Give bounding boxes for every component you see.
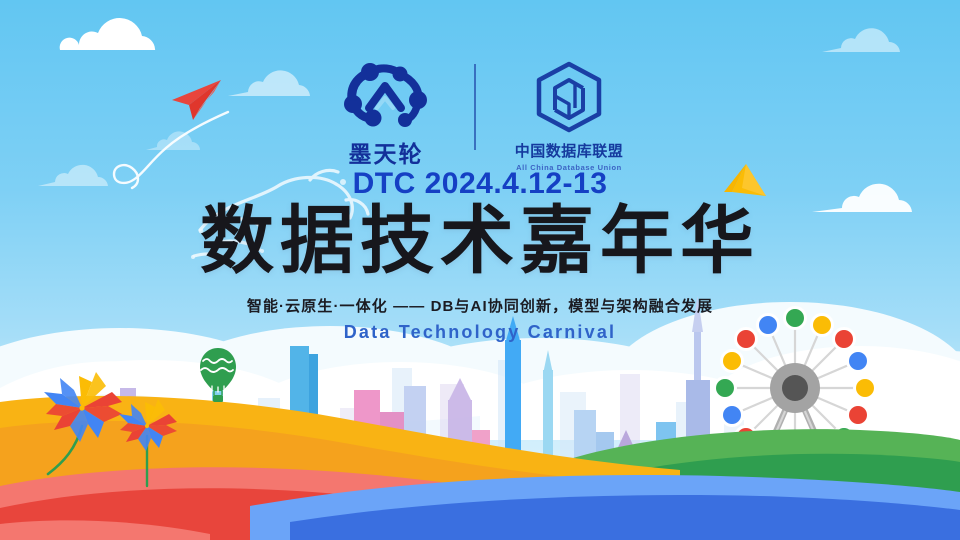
pinwheel-small-icon [112, 394, 182, 499]
subtitle-chinese: 智能·云原生·一体化 —— DB与AI协同创新，模型与架构融合发展 [0, 295, 960, 316]
event-date-line: DTC 2024.4.12-13 [0, 167, 960, 201]
subtitle-english: Data Technology Carnival [0, 322, 960, 343]
hot-air-balloon-green-icon [196, 346, 240, 404]
acdu-logo-block[interactable]: 中国数据库联盟 All China Database Union [494, 60, 644, 172]
modb-logo-name: 墨天轮 [349, 142, 424, 166]
acdu-hexagon-logo-icon [531, 60, 607, 138]
page-title: 数据技术嘉年华 [0, 202, 960, 280]
modb-logo-block[interactable]: 墨天轮 [316, 60, 456, 166]
logo-bar: 墨天轮 中国数据库联盟 All China Database Union [0, 60, 960, 172]
logo-divider [474, 64, 476, 150]
poster-canvas: 墨天轮 中国数据库联盟 All China Database Union DTC… [0, 0, 960, 540]
acdu-logo-name-cn: 中国数据库联盟 [515, 144, 624, 161]
modb-network-logo-icon [343, 60, 429, 138]
